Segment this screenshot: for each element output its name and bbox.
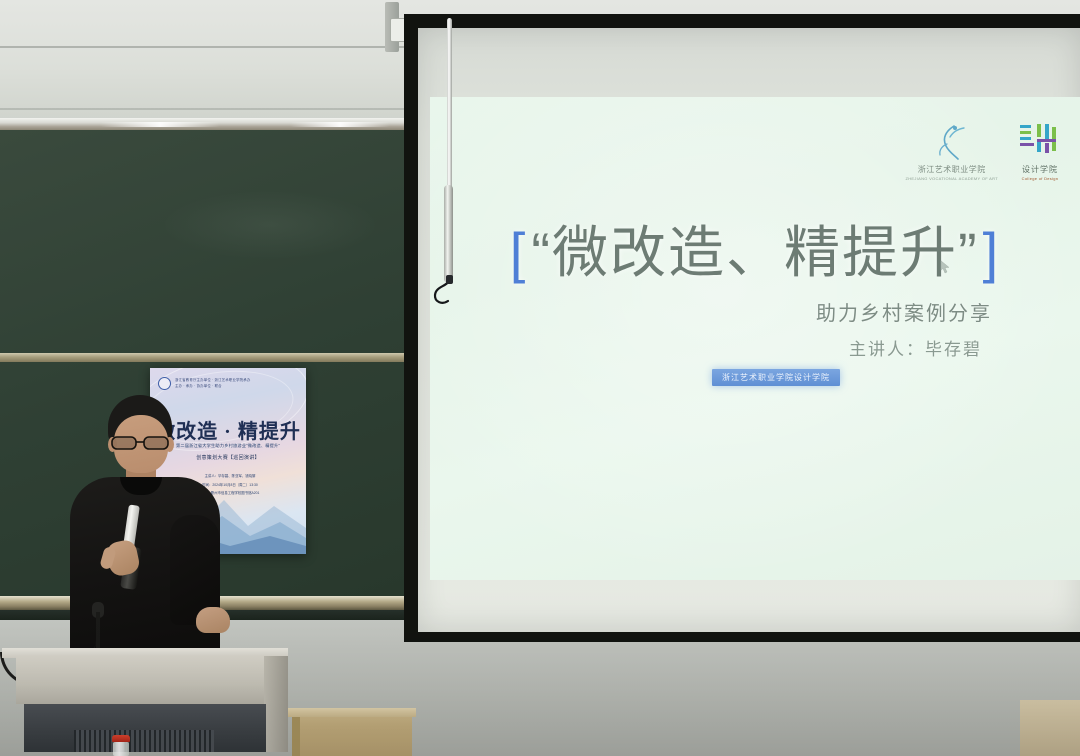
lectern-side-panel — [264, 656, 288, 752]
logo-zhejiang-academy-en: ZHEJIANG VOCATIONAL ACADEMY OF ART — [905, 176, 998, 181]
title-text: “微改造、精提升” — [531, 221, 978, 284]
rail-highlight — [290, 122, 390, 127]
poster-org-line1: 浙江省教育厅主办单位 · 浙江艺术职业学院承办 — [175, 378, 250, 382]
poster-org-lines: 浙江省教育厅主办单位 · 浙江艺术职业学院承办 主办 · 承办 · 协办单位 ·… — [175, 378, 250, 388]
logo-design-cn: 设计学院 — [1022, 164, 1058, 175]
wooden-desk-side — [292, 717, 300, 756]
lectern — [2, 648, 288, 756]
mouse-cursor-icon — [940, 260, 950, 274]
poster-emblem-icon — [158, 377, 171, 390]
screen-hook-icon — [428, 275, 458, 309]
presenter-right-hand — [196, 607, 230, 633]
logo-zhejiang-academy: 浙江艺术职业学院 ZHEJIANG VOCATIONAL ACADEMY OF … — [905, 122, 998, 181]
design-college-logo-icon — [1018, 121, 1062, 161]
poster-org-line2: 主办 · 承办 · 协办单位 · 联合 — [175, 384, 222, 388]
water-bottle — [112, 735, 130, 756]
slide-title: [“微改造、精提升”] — [430, 225, 1080, 281]
slide-logo-row: 浙江艺术职业学院 ZHEJIANG VOCATIONAL ACADEMY OF … — [905, 121, 1062, 181]
classroom-photo-scene: Rec — [0, 0, 1080, 756]
slide-subtitle: 助力乡村案例分享 — [816, 297, 992, 326]
logo-zhejiang-academy-cn: 浙江艺术职业学院 — [918, 164, 986, 175]
logo-design-en: College of Design — [1022, 176, 1059, 181]
wooden-cabinet — [1020, 700, 1080, 756]
poster-header: 浙江省教育厅主办单位 · 浙江艺术职业学院承办 主办 · 承办 · 协办单位 ·… — [158, 377, 298, 390]
title-open-bracket: [ — [506, 221, 532, 284]
bottle-body — [113, 742, 129, 756]
lectern-body — [16, 656, 284, 704]
title-close-bracket: ] — [979, 221, 1005, 284]
wooden-desk-top — [288, 708, 416, 717]
presenter — [40, 395, 250, 660]
screen-pull-pole-lower — [444, 185, 453, 283]
glasses-icon — [110, 435, 172, 450]
projected-slide: 浙江艺术职业学院 ZHEJIANG VOCATIONAL ACADEMY OF … — [430, 97, 1080, 580]
slide-speaker: 主讲人：毕存碧 — [849, 335, 982, 360]
slide-institution-badge: 浙江艺术职业学院设计学院 — [712, 369, 840, 386]
lectern-vent-grille — [74, 730, 214, 752]
dancer-logo-icon — [924, 122, 980, 162]
rail-highlight — [100, 122, 220, 127]
bottle-cap — [112, 735, 130, 742]
logo-college-of-design: 设计学院 College of Design — [1018, 121, 1062, 181]
wooden-desk — [292, 712, 412, 756]
